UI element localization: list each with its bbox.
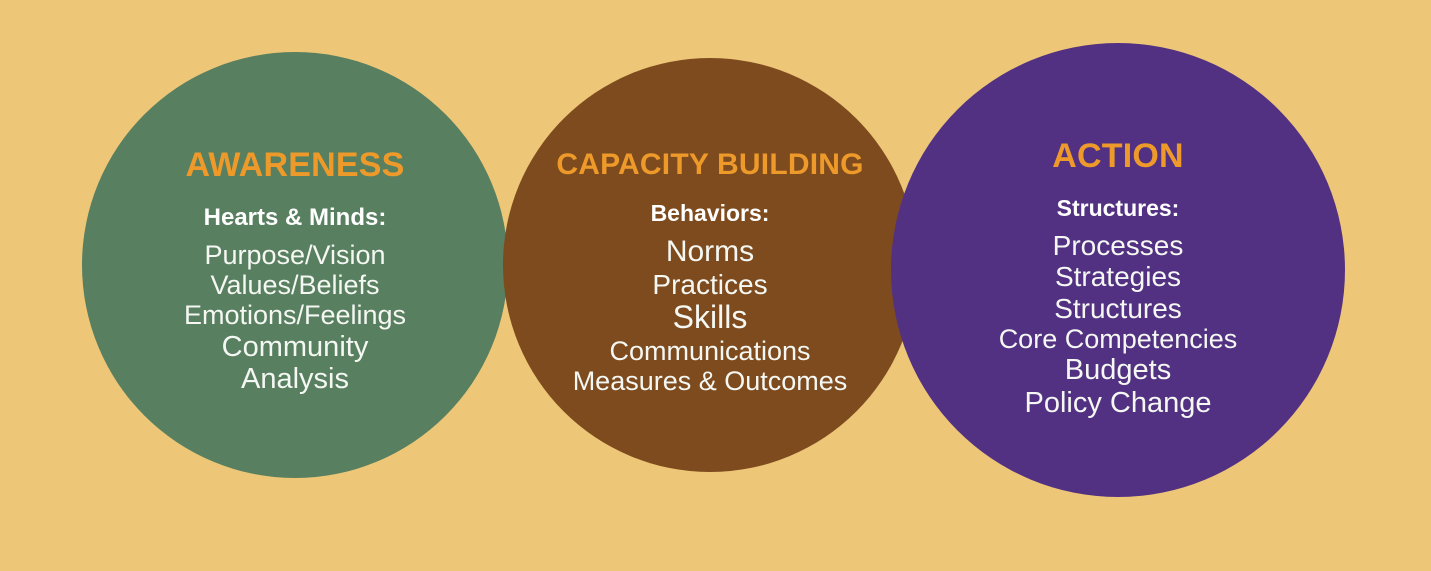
- list-item: Emotions/Feelings: [82, 300, 508, 330]
- list-item: Values/Beliefs: [82, 270, 508, 300]
- circle-capacity-building-item-list: Norms Practices Skills Communications Me…: [503, 235, 917, 396]
- list-item: Purpose/Vision: [82, 240, 508, 270]
- list-item: Norms: [503, 235, 917, 269]
- list-item: Core Competencies: [891, 324, 1345, 354]
- list-item: Structures: [891, 293, 1345, 324]
- list-item: Strategies: [891, 261, 1345, 292]
- list-item: Processes: [891, 230, 1345, 261]
- circle-awareness: AWARENESS Hearts & Minds: Purpose/Vision…: [82, 52, 508, 478]
- venn-diagram: AWARENESS Hearts & Minds: Purpose/Vision…: [0, 0, 1431, 571]
- circle-capacity-building: CAPACITY BUILDING Behaviors: Norms Pract…: [503, 58, 917, 472]
- circle-awareness-item-list: Purpose/Vision Values/Beliefs Emotions/F…: [82, 240, 508, 396]
- list-item: Analysis: [82, 363, 508, 395]
- circle-awareness-content: AWARENESS Hearts & Minds: Purpose/Vision…: [82, 52, 508, 396]
- circle-action: ACTION Structures: Processes Strategies …: [891, 43, 1345, 497]
- circle-capacity-building-content: CAPACITY BUILDING Behaviors: Norms Pract…: [503, 58, 917, 396]
- circle-action-subheading: Structures:: [1057, 197, 1180, 220]
- circle-action-heading: ACTION: [1052, 139, 1184, 173]
- circle-awareness-subheading: Hearts & Minds:: [204, 206, 387, 230]
- list-item: Skills: [503, 300, 917, 336]
- circle-action-item-list: Processes Strategies Structures Core Com…: [891, 230, 1345, 419]
- list-item: Community: [82, 331, 508, 363]
- list-item: Policy Change: [891, 387, 1345, 419]
- list-item: Budgets: [891, 354, 1345, 386]
- list-item: Communications: [503, 336, 917, 366]
- circle-capacity-building-subheading: Behaviors:: [651, 202, 770, 225]
- circle-action-content: ACTION Structures: Processes Strategies …: [891, 43, 1345, 419]
- list-item: Practices: [503, 269, 917, 300]
- circle-capacity-building-heading: CAPACITY BUILDING: [556, 150, 863, 180]
- list-item: Measures & Outcomes: [503, 366, 917, 396]
- circle-awareness-heading: AWARENESS: [185, 148, 404, 182]
